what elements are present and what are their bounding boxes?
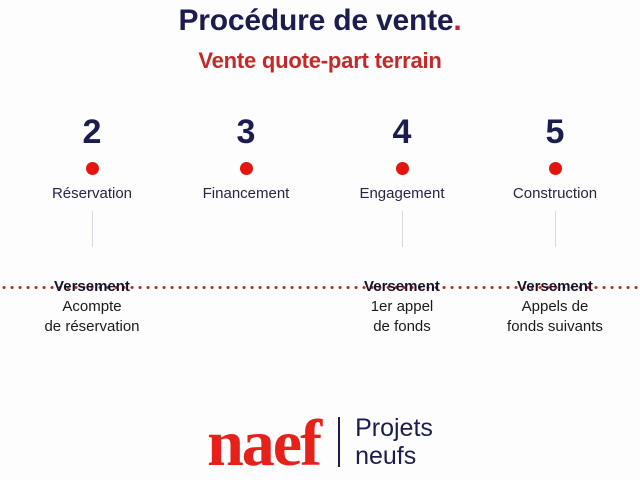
payment-title: Versement	[455, 277, 640, 297]
step-connector	[402, 211, 403, 247]
payment-title: Versement	[0, 277, 192, 297]
naef-wordmark: naef	[207, 413, 320, 475]
timeline-dot-icon	[549, 162, 562, 175]
header: Procédure de vente. Vente quote-part ter…	[0, 0, 640, 74]
payment-line: Acompte	[0, 297, 192, 317]
logo-tagline-line1: Projets	[355, 414, 433, 442]
payment-line: de réservation	[0, 317, 192, 337]
page-subtitle: Vente quote-part terrain	[0, 38, 640, 74]
naef-projets-neufs-logo: naef Projets neufs	[0, 404, 640, 480]
step-number: 5	[455, 112, 640, 156]
timeline-dot-icon	[240, 162, 253, 175]
step-label: Construction	[455, 184, 640, 203]
step-connector	[92, 211, 93, 247]
payments-row: Versement Acompte de réservation Verseme…	[0, 277, 640, 357]
payment-line: fonds suivants	[455, 317, 640, 337]
payment-line: Appels de	[455, 297, 640, 317]
step-connector	[555, 211, 556, 247]
payment-block-reservation: Versement Acompte de réservation	[0, 277, 192, 337]
page-title-period: .	[453, 4, 461, 37]
timeline-dot-icon	[396, 162, 409, 175]
timeline-step-construction: 5 Construction	[455, 112, 640, 247]
sales-procedure-infographic: Procédure de vente. Vente quote-part ter…	[0, 0, 640, 480]
payment-block-construction: Versement Appels de fonds suivants	[455, 277, 640, 337]
timeline: 2 Réservation 3 Financement 4 Engagement…	[0, 112, 640, 222]
logo-tagline: Projets neufs	[355, 414, 433, 470]
page-title: Procédure de vente.	[0, 0, 640, 38]
page-title-text: Procédure de vente	[179, 4, 454, 37]
logo-tagline-line2: neufs	[355, 442, 433, 470]
timeline-dot-icon	[86, 162, 99, 175]
logo-divider	[338, 417, 340, 467]
